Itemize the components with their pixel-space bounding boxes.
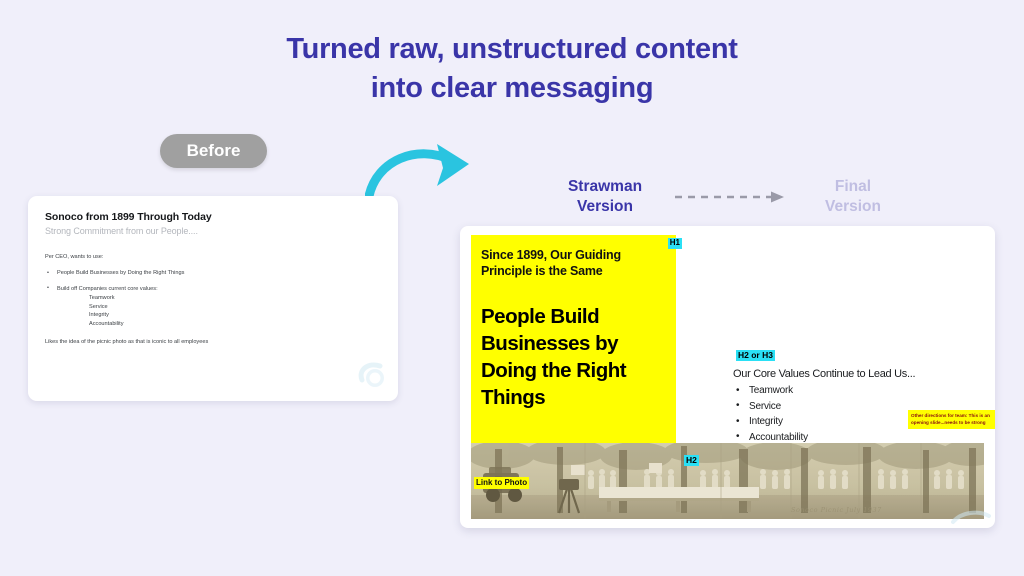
slide-stage: Since 1899, Our Guiding Principle is the… [471, 235, 984, 519]
list-item: Integrity [89, 311, 381, 320]
document-core-values-list: Teamwork Service Integrity Accountabilit… [57, 294, 381, 329]
document-lead: Per CEO, wants to use: [45, 253, 381, 261]
heading-level-tag-h2-or-h3: H2 or H3 [736, 350, 775, 361]
strawman-version-line-2: Version [540, 197, 670, 217]
document-subtitle: Strong Commitment from our People.... [45, 226, 381, 236]
final-version-line-1: Final [790, 177, 916, 197]
page-title: Turned raw, unstructured content into cl… [0, 30, 1024, 107]
document-title: Sonoco from 1899 Through Today [45, 211, 381, 223]
document-body: Per CEO, wants to use: People Build Busi… [45, 253, 381, 346]
document-bullet-text: Build off Companies current core values: [57, 286, 158, 292]
strawman-slide-card[interactable]: Since 1899, Our Guiding Principle is the… [460, 226, 995, 528]
vintage-company-picnic-photo: Link to Photo H2 Sonoco Picnic July 1937 [471, 443, 984, 519]
final-version-label: Final Version [790, 177, 916, 217]
slide-values-column: H2 or H3 Our Core Values Continue to Lea… [733, 345, 978, 445]
heading-level-tag-h2: H2 [684, 455, 699, 466]
list-item: Build off Companies current core values:… [45, 285, 381, 329]
before-badge: Before [160, 134, 267, 168]
list-item: People Build Businesses by Doing the Rig… [45, 269, 381, 277]
slide-logo-watermark [951, 506, 991, 526]
slide-values-title: Our Core Values Continue to Lead Us... [733, 368, 978, 380]
page-title-line-2: into clear messaging [0, 69, 1024, 108]
strawman-version-label: Strawman Version [540, 177, 670, 217]
slide-hero-block: Since 1899, Our Guiding Principle is the… [471, 235, 676, 443]
heading-level-tag-h1: H1 [668, 238, 682, 249]
document-closing-note: Likes the idea of the picnic photo as th… [45, 338, 220, 346]
document-content: Sonoco from 1899 Through Today Strong Co… [28, 196, 398, 346]
slide-hero-heading: People Build Businesses by Doing the Rig… [481, 303, 666, 411]
link-to-photo-label[interactable]: Link to Photo [474, 477, 529, 489]
before-badge-label: Before [187, 141, 241, 161]
before-document-card[interactable]: Sonoco from 1899 Through Today Strong Co… [28, 196, 398, 401]
list-item: Teamwork [89, 294, 381, 303]
list-item: Accountability [89, 320, 381, 329]
list-item: Service [89, 303, 381, 312]
list-item: Teamwork [733, 383, 978, 399]
slide-sticky-note: Other directions for team: This is an op… [908, 410, 995, 429]
document-bullet-text: People Build Businesses by Doing the Rig… [57, 270, 184, 276]
document-bullet-list: People Build Businesses by Doing the Rig… [45, 269, 381, 328]
photo-caption: Sonoco Picnic July 1937 [791, 506, 882, 514]
dashed-arrow-right-icon [675, 190, 790, 204]
final-version-line-2: Version [790, 197, 916, 217]
page-title-line-1: Turned raw, unstructured content [0, 30, 1024, 69]
strawman-version-line-1: Strawman [540, 177, 670, 197]
circle-logo-watermark [356, 359, 390, 393]
curved-arrow-right-icon [365, 138, 497, 200]
slide-hero-kicker: Since 1899, Our Guiding Principle is the… [481, 247, 666, 279]
